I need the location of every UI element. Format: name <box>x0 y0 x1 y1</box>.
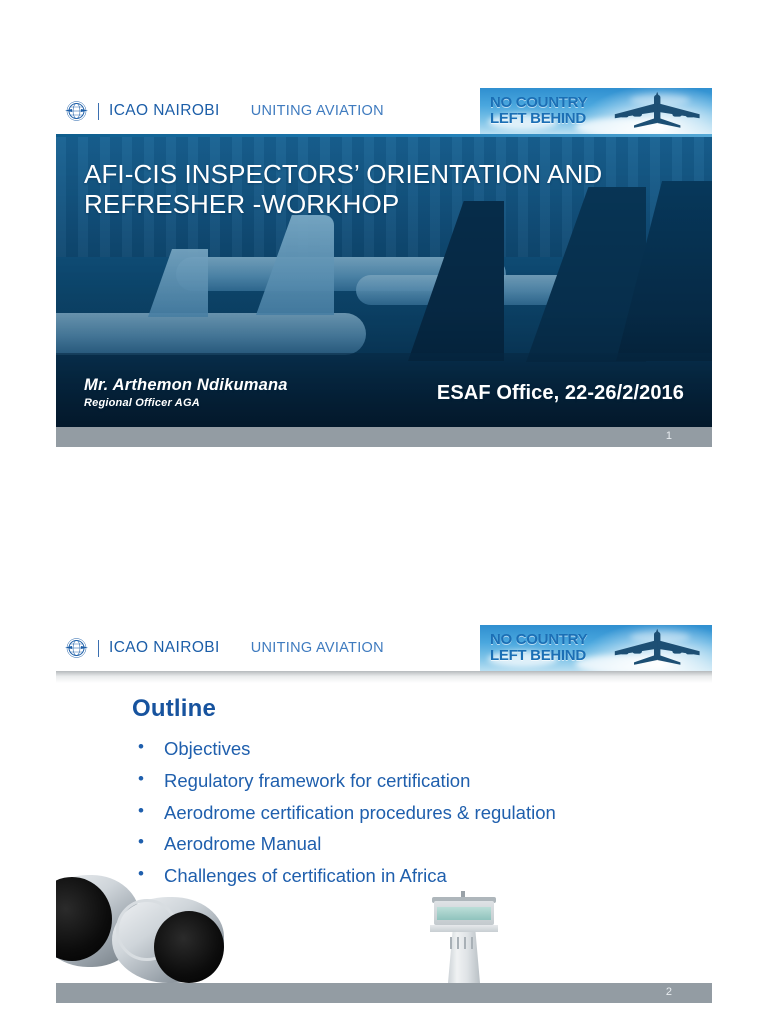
no-country-left-behind-banner: NO COUNTRY LEFT BEHIND <box>480 625 712 671</box>
icao-globe-wings-logo-icon <box>64 636 89 661</box>
icao-globe-wings-logo-icon <box>64 99 89 124</box>
banner-line-1: NO COUNTRY <box>490 95 587 111</box>
brand-tagline: UNITING AVIATION <box>251 103 384 119</box>
slide-footer: 1 <box>56 427 712 447</box>
presenter-block: Mr. Arthemon Ndikumana Regional Officer … <box>84 376 288 409</box>
banner-line-2: LEFT BEHIND <box>490 648 587 664</box>
list-item: Objectives <box>132 733 556 765</box>
tower-detail-shape <box>450 937 478 949</box>
airport-control-tower-photo <box>428 891 500 983</box>
list-item: Aerodrome certification procedures & reg… <box>132 797 556 829</box>
tower-window-shape <box>437 907 491 920</box>
header-brand-group: ICAO NAIROBI UNITING AVIATION <box>64 625 384 671</box>
slide-footer: 2 <box>56 983 712 1003</box>
presenter-role: Regional Officer AGA <box>84 397 288 409</box>
banner-line-2: LEFT BEHIND <box>490 111 587 127</box>
outline-bullet-list: Objectives Regulatory framework for cert… <box>132 733 556 892</box>
brand-divider <box>98 103 99 120</box>
brand-divider <box>98 640 99 657</box>
slide-number: 1 <box>666 430 672 442</box>
page-title: AFI-CIS INSPECTORS’ ORIENTATION AND REFR… <box>84 159 684 220</box>
brand-label: ICAO NAIROBI <box>109 102 220 120</box>
slide-title: ICAO NAIROBI UNITING AVIATION NO COUNTRY… <box>56 88 712 458</box>
slide-number: 2 <box>666 986 672 998</box>
header-brand-group: ICAO NAIROBI UNITING AVIATION <box>64 88 384 134</box>
brand-tagline: UNITING AVIATION <box>251 640 384 656</box>
brand-label: ICAO NAIROBI <box>109 639 220 657</box>
banner-line-1: NO COUNTRY <box>490 632 587 648</box>
slide-outline: ICAO NAIROBI UNITING AVIATION NO COUNTRY… <box>56 625 712 1003</box>
outline-content: Outline Objectives Regulatory framework … <box>56 683 712 983</box>
list-item: Aerodrome Manual <box>132 828 556 860</box>
slide-header: ICAO NAIROBI UNITING AVIATION NO COUNTRY… <box>56 625 712 671</box>
jet-engine-nacelles-photo <box>56 871 250 983</box>
venue-and-date: ESAF Office, 22-26/2/2016 <box>437 382 684 405</box>
banner-text: NO COUNTRY LEFT BEHIND <box>490 632 587 664</box>
engine-intake-shape <box>154 911 224 983</box>
title-overlay: AFI-CIS INSPECTORS’ ORIENTATION AND REFR… <box>56 137 712 220</box>
banner-text: NO COUNTRY LEFT BEHIND <box>490 95 587 127</box>
airplane-front-view-icon <box>610 90 706 132</box>
no-country-left-behind-banner: NO COUNTRY LEFT BEHIND <box>480 88 712 134</box>
title-slide-photo: AFI-CIS INSPECTORS’ ORIENTATION AND REFR… <box>56 137 712 427</box>
outline-heading: Outline <box>132 695 216 723</box>
airplane-front-view-icon <box>610 627 706 669</box>
header-shadow <box>56 671 712 683</box>
list-item: Regulatory framework for certification <box>132 765 556 797</box>
slide-header: ICAO NAIROBI UNITING AVIATION NO COUNTRY… <box>56 88 712 134</box>
presenter-name: Mr. Arthemon Ndikumana <box>84 376 288 395</box>
tower-deck-shape <box>430 925 498 932</box>
